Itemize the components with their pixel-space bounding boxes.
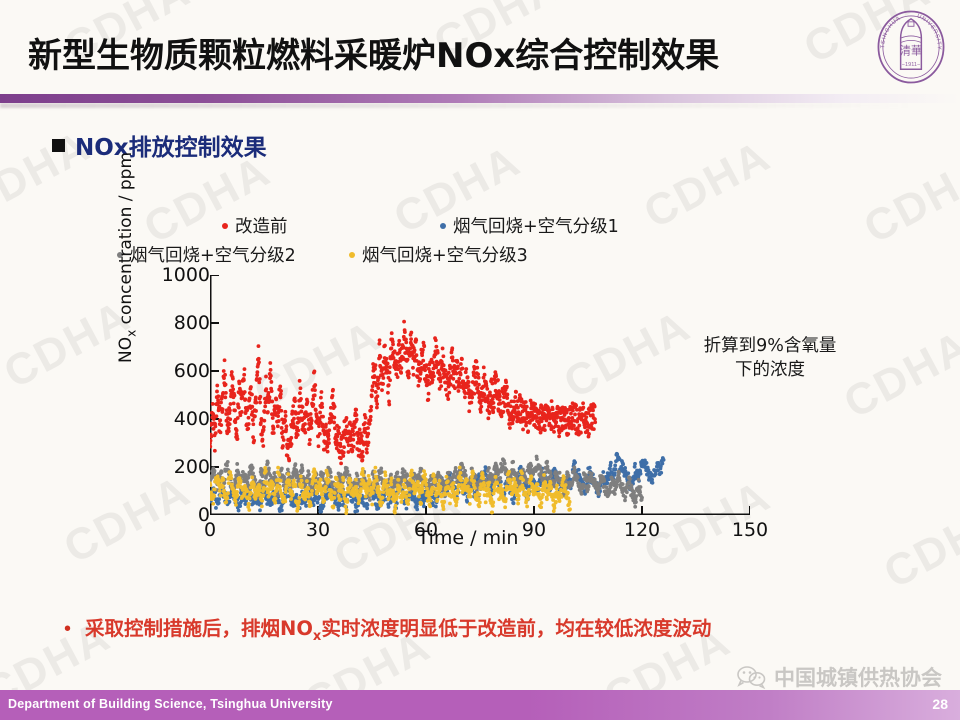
legend-label: 烟气回烧+空气分级3 xyxy=(362,242,528,267)
y-axis-ticks: 02004006008001000 xyxy=(138,275,210,575)
svg-text:清華: 清華 xyxy=(900,44,922,57)
legend-item-1: 烟气回烧+空气分级1 xyxy=(440,213,619,238)
y-tick-label: 200 xyxy=(174,456,210,478)
page-title: 新型生物质颗粒燃料采暖炉NOx综合控制效果 xyxy=(28,28,719,77)
header-divider xyxy=(0,94,960,103)
footer-department: Department of Building Science, Tsinghua… xyxy=(8,697,333,711)
x-tick-label: 150 xyxy=(732,519,768,541)
page-number: 28 xyxy=(932,696,948,712)
annotation-line-2: 下的浓度 xyxy=(670,359,870,383)
series-0 xyxy=(210,320,597,465)
svg-text:TSINGHUA: TSINGHUA xyxy=(880,15,902,48)
watermark-text: CDHA xyxy=(876,491,960,599)
watermark-text: CDHA xyxy=(856,146,960,254)
y-tick-label: 800 xyxy=(174,312,210,334)
slide-header: 新型生物质颗粒燃料采暖炉NOx综合控制效果 清華 −1911− TSINGHUA… xyxy=(0,0,960,94)
conclusion-text-after: 实时浓度明显低于改造前，均在较低浓度波动 xyxy=(321,617,711,640)
wechat-label: 中国城镇供热协会 xyxy=(774,662,942,692)
nox-concentration-chart: 改造前 烟气回烧+空气分级1 烟气回烧+空气分级2 烟气回烧+空气分级3 NOx… xyxy=(110,205,770,580)
legend-marker-icon xyxy=(440,223,446,229)
wechat-association-mark: 中国城镇供热协会 xyxy=(736,662,942,692)
wechat-icon xyxy=(736,665,766,689)
plot-area: NOx concentration / ppm 0200400600800100… xyxy=(110,275,770,575)
x-axis-label: Time / min xyxy=(218,527,718,549)
y-tick-label: 400 xyxy=(174,408,210,430)
legend-label: 烟气回烧+空气分级2 xyxy=(130,242,296,267)
svg-text:−1911−: −1911− xyxy=(902,62,920,68)
y-axis-label: NOx concentration / ppm xyxy=(116,152,138,363)
conclusion-text: 采取控制措施后，排烟NOx实时浓度明显低于改造前，均在较低浓度波动 xyxy=(85,612,711,644)
tsinghua-seal-logo: 清華 −1911− TSINGHUA UNIVERSITY xyxy=(874,8,948,86)
conclusion-text-before: 采取控制措施后，排烟NO xyxy=(85,617,313,640)
section-title: NOx排放控制效果 xyxy=(75,128,267,162)
x-tick-label: 0 xyxy=(204,519,216,541)
y-tick-label: 600 xyxy=(174,360,210,382)
legend-item-3: 烟气回烧+空气分级3 xyxy=(349,242,528,267)
square-bullet-icon xyxy=(52,139,65,152)
bullet-icon: • xyxy=(64,619,71,639)
chart-annotation: 折算到9%含氧量 下的浓度 xyxy=(670,335,870,382)
annotation-line-1: 折算到9%含氧量 xyxy=(670,335,870,359)
chart-legend: 改造前 烟气回烧+空气分级1 烟气回烧+空气分级2 烟气回烧+空气分级3 xyxy=(222,213,642,267)
conclusion-bullet: • 采取控制措施后，排烟NOx实时浓度明显低于改造前，均在较低浓度波动 xyxy=(64,612,711,644)
legend-item-0: 改造前 xyxy=(222,213,440,238)
header-divider-shadow xyxy=(0,103,960,108)
plot-canvas xyxy=(210,275,750,515)
legend-item-2: 烟气回烧+空气分级2 xyxy=(117,242,349,267)
legend-label: 改造前 xyxy=(235,213,288,238)
legend-marker-icon xyxy=(349,252,355,258)
y-tick-label: 1000 xyxy=(162,264,210,286)
section-heading: NOx排放控制效果 xyxy=(52,128,267,162)
legend-marker-icon xyxy=(222,223,228,229)
slide-footer: Department of Building Science, Tsinghua… xyxy=(0,690,960,720)
legend-label: 烟气回烧+空气分级1 xyxy=(453,213,619,238)
legend-row: 改造前 烟气回烧+空气分级1 xyxy=(222,213,642,238)
